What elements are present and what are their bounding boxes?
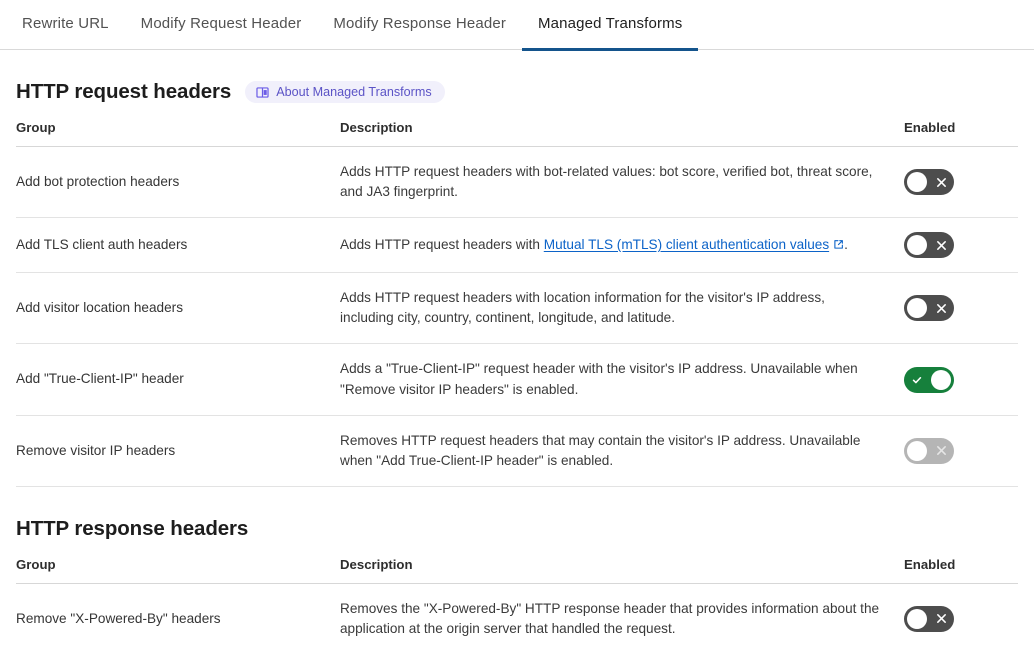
column-header-enabled: Enabled — [904, 557, 1018, 584]
toggle-add-tls-client-auth-headers[interactable] — [904, 232, 954, 258]
table-row: Add bot protection headers Adds HTTP req… — [16, 147, 1018, 218]
response-headers-table: Group Description Enabled Remove "X-Powe… — [16, 557, 1018, 653]
row-description: Removes HTTP request headers that may co… — [336, 415, 904, 486]
table-row: Remove visitor IP headers Removes HTTP r… — [16, 415, 1018, 486]
row-group-label: Add TLS client auth headers — [16, 218, 336, 273]
row-group-label: Remove "X-Powered-By" headers — [16, 583, 336, 653]
section-header: HTTP request headers About Managed Trans… — [16, 80, 1018, 104]
http-response-headers-section: HTTP response headers Group Description … — [0, 517, 1034, 653]
toggle-add-true-client-ip-header[interactable] — [904, 367, 954, 393]
close-icon — [928, 232, 954, 258]
external-link-icon[interactable] — [833, 236, 844, 256]
row-group-label: Add "True-Client-IP" header — [16, 344, 336, 415]
toggle-knob — [907, 298, 927, 318]
row-group-label: Add bot protection headers — [16, 147, 336, 218]
row-description: Adds a "True-Client-IP" request header w… — [336, 344, 904, 415]
column-header-description: Description — [336, 557, 904, 584]
close-icon — [928, 606, 954, 632]
toggle-add-bot-protection-headers[interactable] — [904, 169, 954, 195]
section-title-response: HTTP response headers — [16, 517, 248, 541]
mtls-documentation-link[interactable]: Mutual TLS (mTLS) client authentication … — [544, 237, 829, 252]
description-suffix: . — [844, 237, 848, 252]
tab-rewrite-url[interactable]: Rewrite URL — [6, 0, 125, 50]
toggle-knob — [907, 172, 927, 192]
table-row: Add visitor location headers Adds HTTP r… — [16, 273, 1018, 344]
toggle-remove-visitor-ip-headers — [904, 438, 954, 464]
page-title: HTTP request headers — [16, 80, 231, 104]
row-description: Adds HTTP request headers with Mutual TL… — [336, 218, 904, 273]
table-row: Add "True-Client-IP" header Adds a "True… — [16, 344, 1018, 415]
column-header-enabled: Enabled — [904, 120, 1018, 147]
toggle-knob — [907, 441, 927, 461]
table-header-row: Group Description Enabled — [16, 120, 1018, 147]
table-header-row: Group Description Enabled — [16, 557, 1018, 584]
toggle-remove-x-powered-by-headers[interactable] — [904, 606, 954, 632]
book-icon — [256, 86, 269, 99]
close-icon — [928, 438, 954, 464]
about-managed-transforms-badge[interactable]: About Managed Transforms — [245, 81, 444, 103]
request-headers-table: Group Description Enabled Add bot protec… — [16, 120, 1018, 487]
toggle-knob — [907, 609, 927, 629]
row-description: Removes the "X-Powered-By" HTTP response… — [336, 583, 904, 653]
row-enabled-cell — [904, 147, 1018, 218]
table-row: Remove "X-Powered-By" headers Removes th… — [16, 583, 1018, 653]
check-icon — [904, 367, 930, 393]
description-prefix: Adds HTTP request headers with — [340, 237, 544, 252]
tab-bar: Rewrite URL Modify Request Header Modify… — [0, 0, 1034, 50]
about-badge-label: About Managed Transforms — [276, 85, 431, 99]
row-group-label: Add visitor location headers — [16, 273, 336, 344]
row-description: Adds HTTP request headers with location … — [336, 273, 904, 344]
tab-managed-transforms[interactable]: Managed Transforms — [522, 0, 698, 50]
column-header-group: Group — [16, 120, 336, 147]
http-request-headers-section: HTTP request headers About Managed Trans… — [0, 80, 1034, 487]
row-enabled-cell — [904, 415, 1018, 486]
column-header-group: Group — [16, 557, 336, 584]
tab-modify-request-header[interactable]: Modify Request Header — [125, 0, 318, 50]
close-icon — [928, 169, 954, 195]
toggle-knob — [907, 235, 927, 255]
toggle-add-visitor-location-headers[interactable] — [904, 295, 954, 321]
section-header: HTTP response headers — [16, 517, 1018, 541]
row-description: Adds HTTP request headers with bot-relat… — [336, 147, 904, 218]
toggle-knob — [931, 370, 951, 390]
row-enabled-cell — [904, 218, 1018, 273]
table-row: Add TLS client auth headers Adds HTTP re… — [16, 218, 1018, 273]
row-enabled-cell — [904, 583, 1018, 653]
close-icon — [928, 295, 954, 321]
column-header-description: Description — [336, 120, 904, 147]
tab-modify-response-header[interactable]: Modify Response Header — [317, 0, 522, 50]
row-group-label: Remove visitor IP headers — [16, 415, 336, 486]
row-enabled-cell — [904, 344, 1018, 415]
row-enabled-cell — [904, 273, 1018, 344]
